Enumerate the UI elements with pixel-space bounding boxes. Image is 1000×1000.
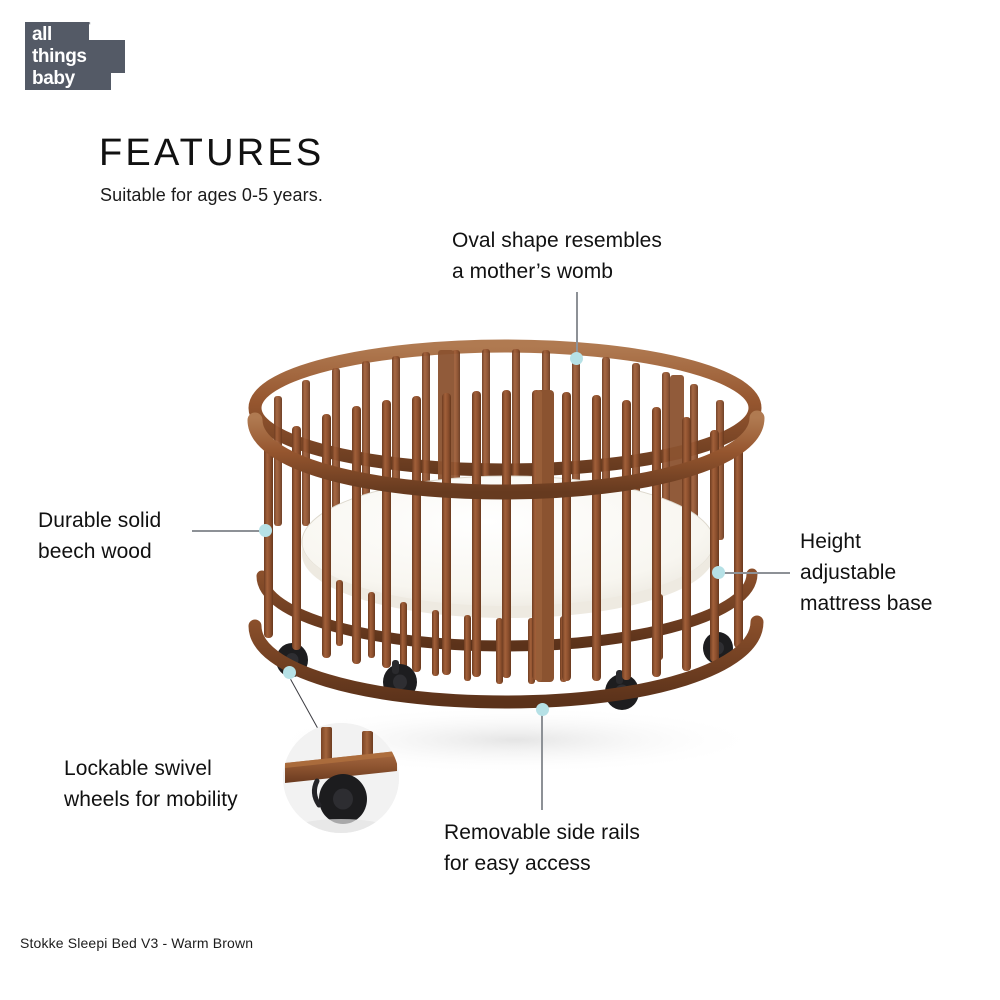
page-subtitle: Suitable for ages 0-5 years. (100, 185, 323, 206)
callout-removable-rails-leader (541, 712, 543, 810)
logo-line-things: things (32, 46, 87, 68)
callout-oval-shape-dot (570, 352, 583, 365)
callout-oval-shape-label: Oval shape resembles a mother’s womb (452, 225, 662, 287)
callout-oval-shape-leader (576, 292, 578, 352)
callout-height-adjustable-dot (712, 566, 725, 579)
infographic-canvas: ™ all things baby FEATURES Suitable for … (0, 0, 1000, 1000)
trademark-symbol: ™ (84, 22, 91, 30)
logo-wordmark: all things baby (32, 24, 87, 90)
callout-height-adjustable-label: Height adjustable mattress base (800, 526, 933, 619)
logo-line-all: all (32, 24, 87, 46)
logo-line-baby: baby (32, 68, 87, 90)
page-title: FEATURES (99, 131, 324, 175)
wheel-detail-zoom-inset (283, 723, 399, 833)
callout-removable-rails-dot (536, 703, 549, 716)
callout-lockable-wheels-label: Lockable swivel wheels for mobility (64, 753, 238, 815)
callout-durable-wood-dot (259, 524, 272, 537)
product-image-crib (240, 330, 780, 770)
callout-lockable-wheels-dot (283, 666, 296, 679)
callout-height-adjustable-leader (722, 572, 790, 574)
callout-durable-wood-label: Durable solid beech wood (38, 505, 161, 567)
product-caption: Stokke Sleepi Bed V3 - Warm Brown (20, 935, 253, 951)
callout-removable-rails-label: Removable side rails for easy access (444, 817, 640, 879)
brand-logo[interactable]: ™ all things baby (25, 22, 125, 92)
callout-durable-wood-leader (192, 530, 264, 532)
